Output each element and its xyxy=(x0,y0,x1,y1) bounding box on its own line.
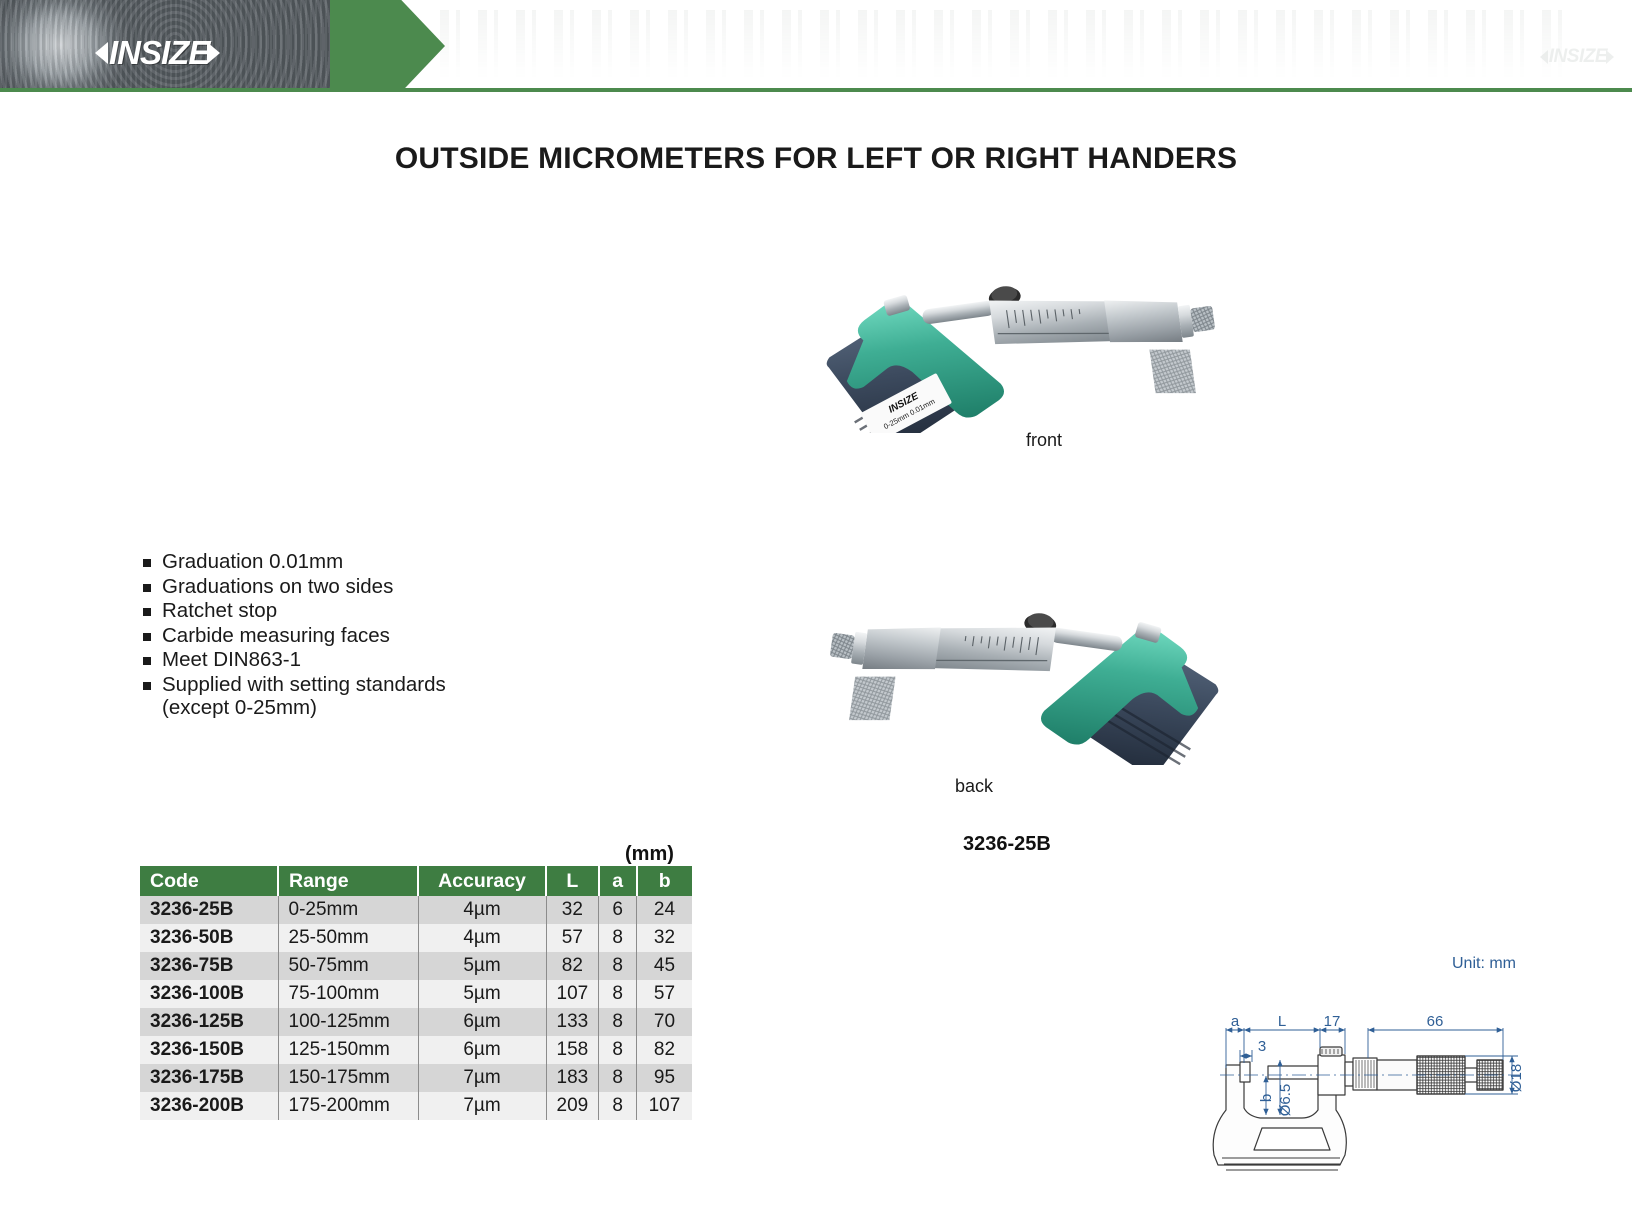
dim-label-17: 17 xyxy=(1324,1013,1341,1030)
watermark-right-arrow-icon xyxy=(1606,50,1614,64)
cell-range: 100-125mm xyxy=(278,1008,418,1036)
dim-label-dia-6-5: Ø6.5 xyxy=(1277,1084,1294,1117)
cell-accuracy: 7µm xyxy=(418,1064,546,1092)
column-header-L: L xyxy=(546,866,599,896)
cell-range: 150-175mm xyxy=(278,1064,418,1092)
cell-range: 25-50mm xyxy=(278,924,418,952)
bullet-square-icon xyxy=(143,682,151,690)
feature-label: Ratchet stop xyxy=(162,599,277,623)
cell-a: 6 xyxy=(599,896,637,924)
cell-code: 3236-50B xyxy=(140,924,278,952)
feature-list: Graduation 0.01mm Graduations on two sid… xyxy=(143,550,613,721)
feature-item: Ratchet stop xyxy=(143,599,613,623)
cell-L: 209 xyxy=(546,1092,599,1120)
table-header-row: Code Range Accuracy L a b xyxy=(140,866,692,896)
feature-label: Meet DIN863-1 xyxy=(162,648,301,672)
cell-accuracy: 6µm xyxy=(418,1036,546,1064)
cell-L: 133 xyxy=(546,1008,599,1036)
cell-L: 107 xyxy=(546,980,599,1008)
cell-range: 0-25mm xyxy=(278,896,418,924)
table-row: 3236-150B 125-150mm 6µm 158 8 82 xyxy=(140,1036,692,1064)
insize-logo: INSIZE xyxy=(95,34,220,72)
feature-item: Graduation 0.01mm xyxy=(143,550,613,574)
cell-b: 32 xyxy=(637,924,692,952)
bullet-square-icon xyxy=(143,608,151,616)
dim-label-b: b xyxy=(1258,1094,1275,1102)
insize-watermark-logo: INSIZE xyxy=(1540,46,1614,68)
page-header: INSIZE INSIZE xyxy=(0,0,1632,92)
watermark-wordmark: INSIZE xyxy=(1549,46,1607,68)
table-row: 3236-50B 25-50mm 4µm 57 8 32 xyxy=(140,924,692,952)
cell-a: 8 xyxy=(599,1036,637,1064)
cell-b: 24 xyxy=(637,896,692,924)
cell-accuracy: 6µm xyxy=(418,1008,546,1036)
cell-b: 107 xyxy=(637,1092,692,1120)
cell-accuracy: 5µm xyxy=(418,952,546,980)
column-header-a: a xyxy=(599,866,637,896)
table-row: 3236-100B 75-100mm 5µm 107 8 57 xyxy=(140,980,692,1008)
product-photo-front: INSIZE 0-25mm 0.01mm xyxy=(800,258,1250,433)
column-header-range: Range xyxy=(278,866,418,896)
catalog-page: INSIZE INSIZE OUTSIDE MICROMETERS FOR LE… xyxy=(0,0,1632,1220)
cell-code: 3236-100B xyxy=(140,980,278,1008)
header-watermark-pattern xyxy=(440,10,1570,80)
logo-right-arrow-icon xyxy=(207,42,220,64)
cell-accuracy: 4µm xyxy=(418,924,546,952)
feature-label: Graduations on two sides xyxy=(162,575,393,599)
feature-label: Supplied with setting standards (except … xyxy=(162,673,446,720)
page-title: OUTSIDE MICROMETERS FOR LEFT OR RIGHT HA… xyxy=(0,142,1632,176)
feature-item: Carbide measuring faces xyxy=(143,624,613,648)
table-unit-note: (mm) xyxy=(625,843,674,866)
cell-accuracy: 7µm xyxy=(418,1092,546,1120)
dimension-drawing: a L 17 66 3 b Ø6.5 Ø18 xyxy=(1140,950,1632,1220)
dim-label-L: L xyxy=(1278,1013,1286,1030)
cell-accuracy: 4µm xyxy=(418,896,546,924)
cell-range: 125-150mm xyxy=(278,1036,418,1064)
back-photo-caption: back xyxy=(955,776,993,797)
cell-L: 82 xyxy=(546,952,599,980)
feature-item: Supplied with setting standards (except … xyxy=(143,673,613,720)
cell-b: 57 xyxy=(637,980,692,1008)
feature-label: Carbide measuring faces xyxy=(162,624,390,648)
cell-code: 3236-125B xyxy=(140,1008,278,1036)
product-photo-back xyxy=(790,580,1250,765)
dim-label-a: a xyxy=(1231,1013,1240,1030)
column-header-accuracy: Accuracy xyxy=(418,866,546,896)
specifications-table: Code Range Accuracy L a b 3236-25B 0-25m… xyxy=(140,866,692,1120)
cell-b: 70 xyxy=(637,1008,692,1036)
cell-L: 158 xyxy=(546,1036,599,1064)
cell-b: 95 xyxy=(637,1064,692,1092)
column-header-b: b xyxy=(637,866,692,896)
cell-a: 8 xyxy=(599,1008,637,1036)
cell-a: 8 xyxy=(599,980,637,1008)
product-model-label: 3236-25B xyxy=(963,833,1051,856)
table-row: 3236-200B 175-200mm 7µm 209 8 107 xyxy=(140,1092,692,1120)
table-row: 3236-125B 100-125mm 6µm 133 8 70 xyxy=(140,1008,692,1036)
cell-b: 82 xyxy=(637,1036,692,1064)
table-row: 3236-175B 150-175mm 7µm 183 8 95 xyxy=(140,1064,692,1092)
cell-a: 8 xyxy=(599,1092,637,1120)
logo-wordmark: INSIZE xyxy=(109,34,209,72)
dim-label-dia-18: Ø18 xyxy=(1508,1064,1525,1092)
front-photo-caption: front xyxy=(1026,430,1062,451)
feature-item: Meet DIN863-1 xyxy=(143,648,613,672)
header-green-rule xyxy=(0,88,1632,92)
table-row: 3236-75B 50-75mm 5µm 82 8 45 xyxy=(140,952,692,980)
dim-label-3: 3 xyxy=(1258,1038,1266,1055)
cell-code: 3236-150B xyxy=(140,1036,278,1064)
cell-code: 3236-175B xyxy=(140,1064,278,1092)
bullet-square-icon xyxy=(143,559,151,567)
cell-accuracy: 5µm xyxy=(418,980,546,1008)
cell-b: 45 xyxy=(637,952,692,980)
cell-a: 8 xyxy=(599,952,637,980)
cell-range: 175-200mm xyxy=(278,1092,418,1120)
feature-label: Graduation 0.01mm xyxy=(162,550,343,574)
table-row: 3236-25B 0-25mm 4µm 32 6 24 xyxy=(140,896,692,924)
dim-label-66: 66 xyxy=(1427,1013,1444,1030)
cell-a: 8 xyxy=(599,1064,637,1092)
cell-L: 183 xyxy=(546,1064,599,1092)
feature-item: Graduations on two sides xyxy=(143,575,613,599)
bullet-square-icon xyxy=(143,584,151,592)
column-header-code: Code xyxy=(140,866,278,896)
drawing-unit-label: Unit: mm xyxy=(1452,955,1516,973)
cell-code: 3236-25B xyxy=(140,896,278,924)
bullet-square-icon xyxy=(143,633,151,641)
cell-range: 75-100mm xyxy=(278,980,418,1008)
logo-left-arrow-icon xyxy=(95,42,108,64)
cell-code: 3236-200B xyxy=(140,1092,278,1120)
cell-code: 3236-75B xyxy=(140,952,278,980)
header-green-chevron xyxy=(330,0,445,92)
bullet-square-icon xyxy=(143,657,151,665)
cell-range: 50-75mm xyxy=(278,952,418,980)
cell-L: 57 xyxy=(546,924,599,952)
watermark-left-arrow-icon xyxy=(1540,50,1548,64)
cell-a: 8 xyxy=(599,924,637,952)
cell-L: 32 xyxy=(546,896,599,924)
